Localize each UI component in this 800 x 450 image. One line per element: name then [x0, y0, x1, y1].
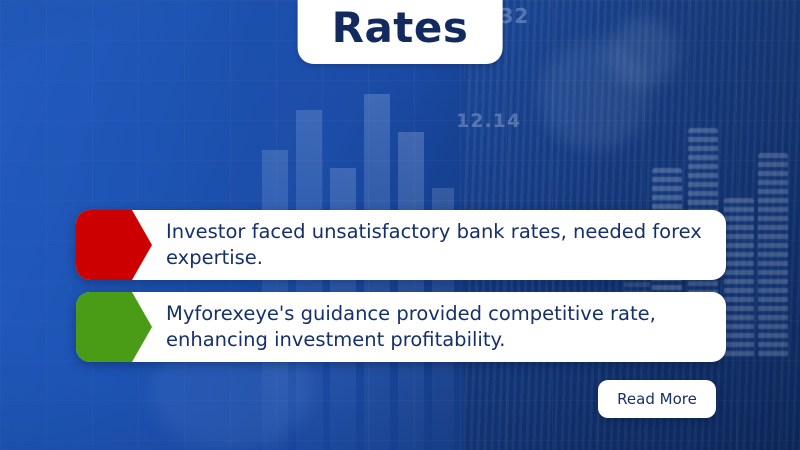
red-chip-icon — [76, 210, 132, 280]
read-more-button[interactable]: Read More — [598, 380, 716, 418]
ghost-number-2: 12.14 — [456, 110, 521, 132]
title-banner: Rates — [298, 0, 503, 64]
callout-solution-text: Myforexeye's guidance provided competiti… — [132, 292, 726, 362]
callout-problem-text: Investor faced unsatisfactory bank rates… — [132, 210, 726, 280]
callout-problem: Investor faced unsatisfactory bank rates… — [76, 210, 726, 280]
green-chip-icon — [76, 292, 132, 362]
promo-banner: 8.32 12.14 S A V Rates Investor faced un… — [0, 0, 800, 450]
callout-solution: Myforexeye's guidance provided competiti… — [76, 292, 726, 362]
page-title: Rates — [332, 4, 469, 52]
